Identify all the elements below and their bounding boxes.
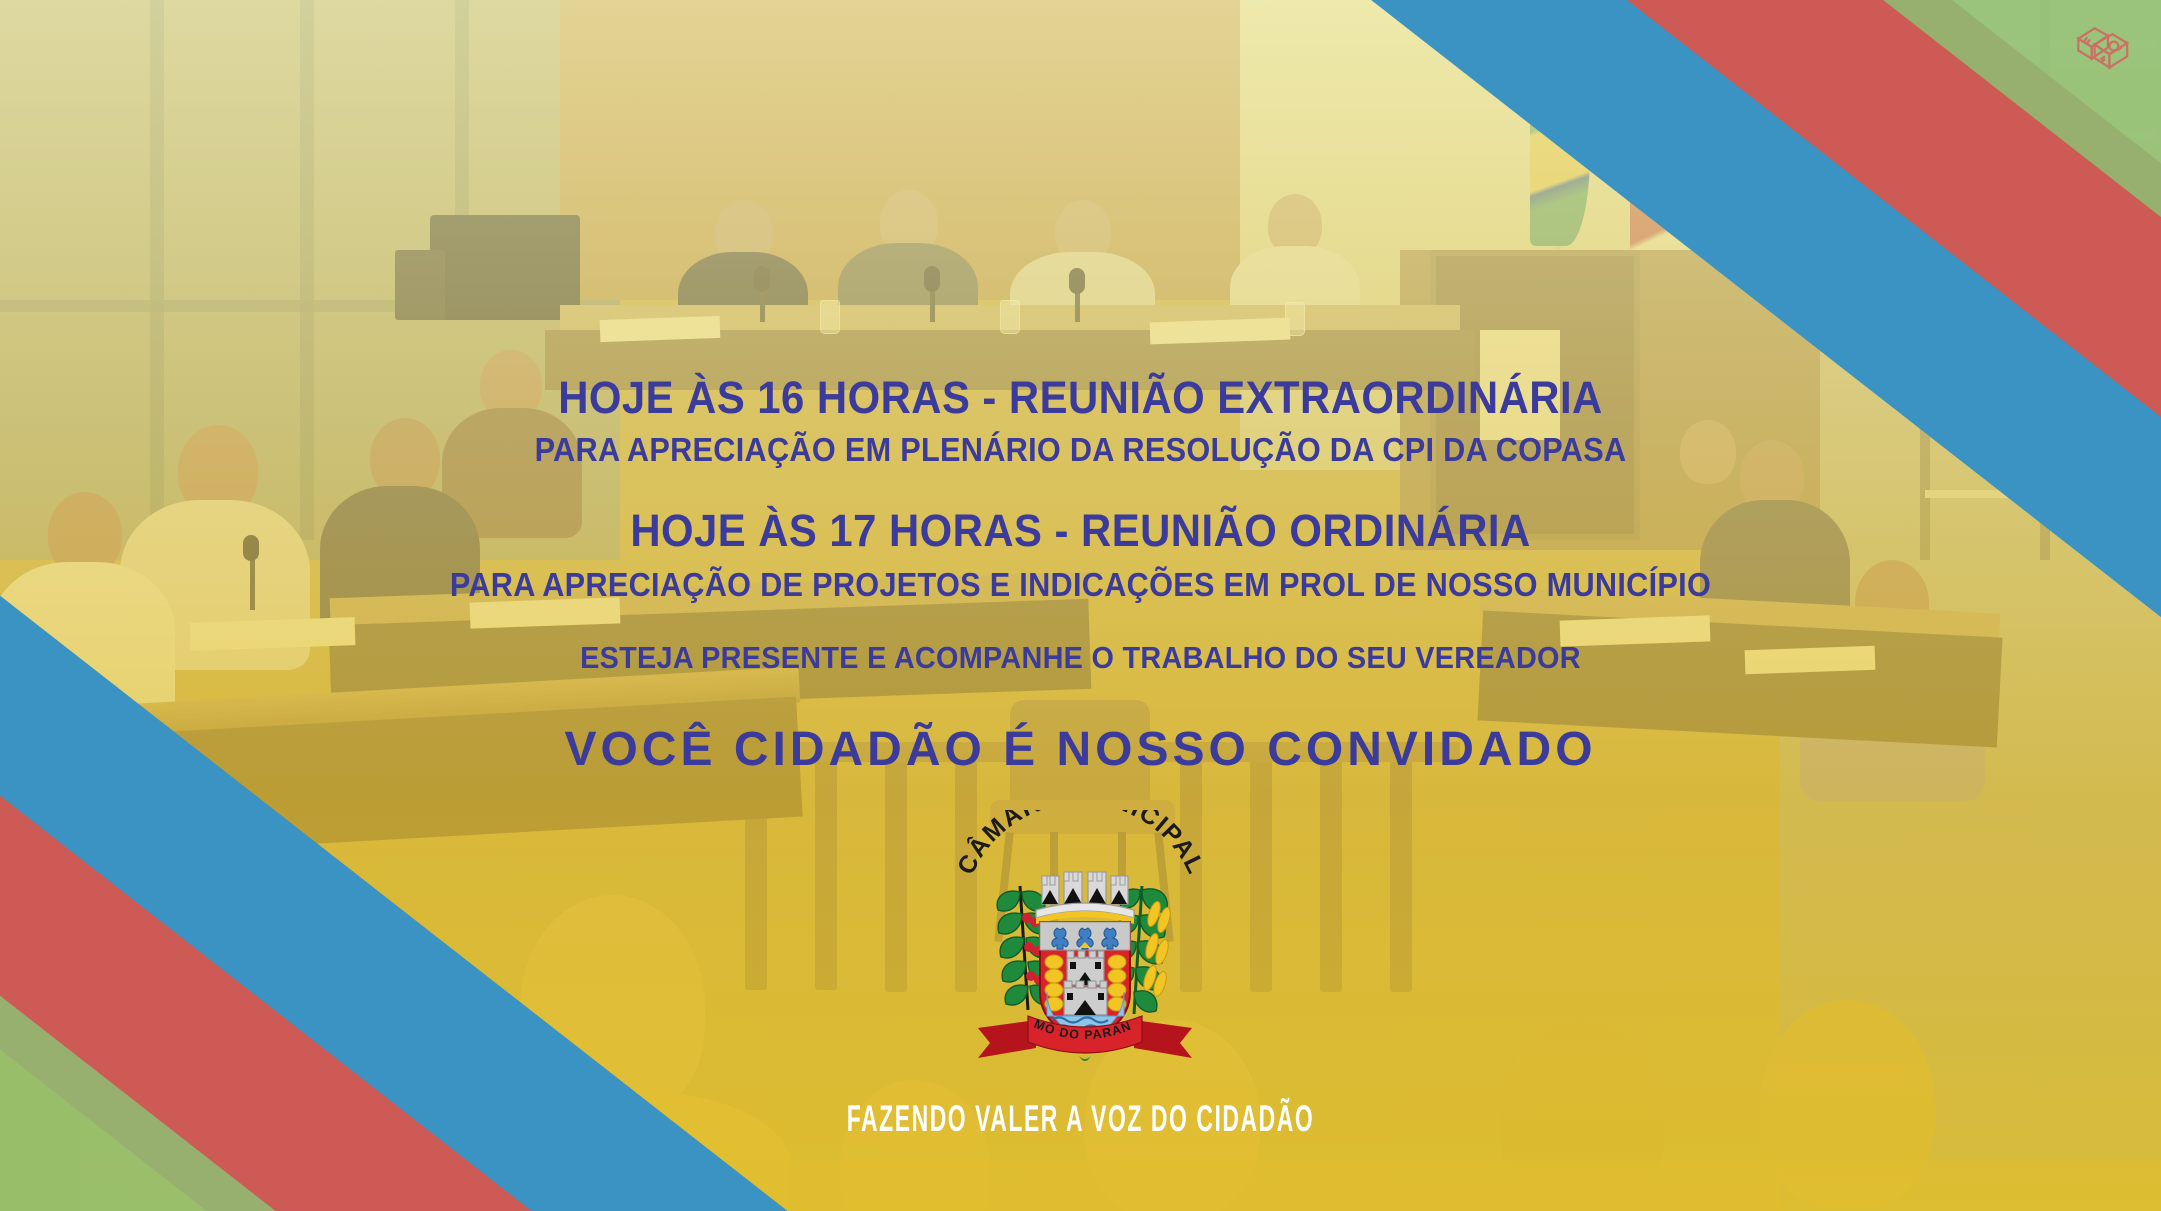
extraordinary-meeting-detail: PARA APRECIAÇÃO EM PLENÁRIO DA RESOLUÇÃO…: [76, 431, 2086, 469]
crest-base-leaf: [1079, 1056, 1091, 1061]
ordinary-meeting-detail: PARA APRECIAÇÃO DE PROJETOS E INDICAÇÕES…: [76, 566, 2086, 604]
attendance-note: ESTEJA PRESENTE E ACOMPANHE O TRABALHO D…: [76, 640, 2086, 676]
camara-municipal-crest: CÂMARA MUNICIPAL: [916, 810, 1246, 1070]
announcement-poster: HOJE ÀS 16 HORAS - REUNIÃO EXTRAORDINÁRI…: [0, 0, 2161, 1211]
ordinary-meeting-heading: HOJE ÀS 17 HORAS - REUNIÃO ORDINÁRIA: [76, 505, 2086, 557]
crest-arc-text: CÂMARA MUNICIPAL: [951, 810, 1209, 879]
mural-crown-icon: [1036, 872, 1134, 924]
call-to-action: VOCÊ CIDADÃO É NOSSO CONVIDADO: [0, 722, 2161, 777]
castle-icon: [1064, 942, 1107, 1015]
institution-tagline: FAZENDO VALER A VOZ DO CIDADÃO: [411, 1098, 1751, 1140]
extraordinary-meeting-heading: HOJE ÀS 16 HORAS - REUNIÃO EXTRAORDINÁRI…: [76, 372, 2086, 424]
